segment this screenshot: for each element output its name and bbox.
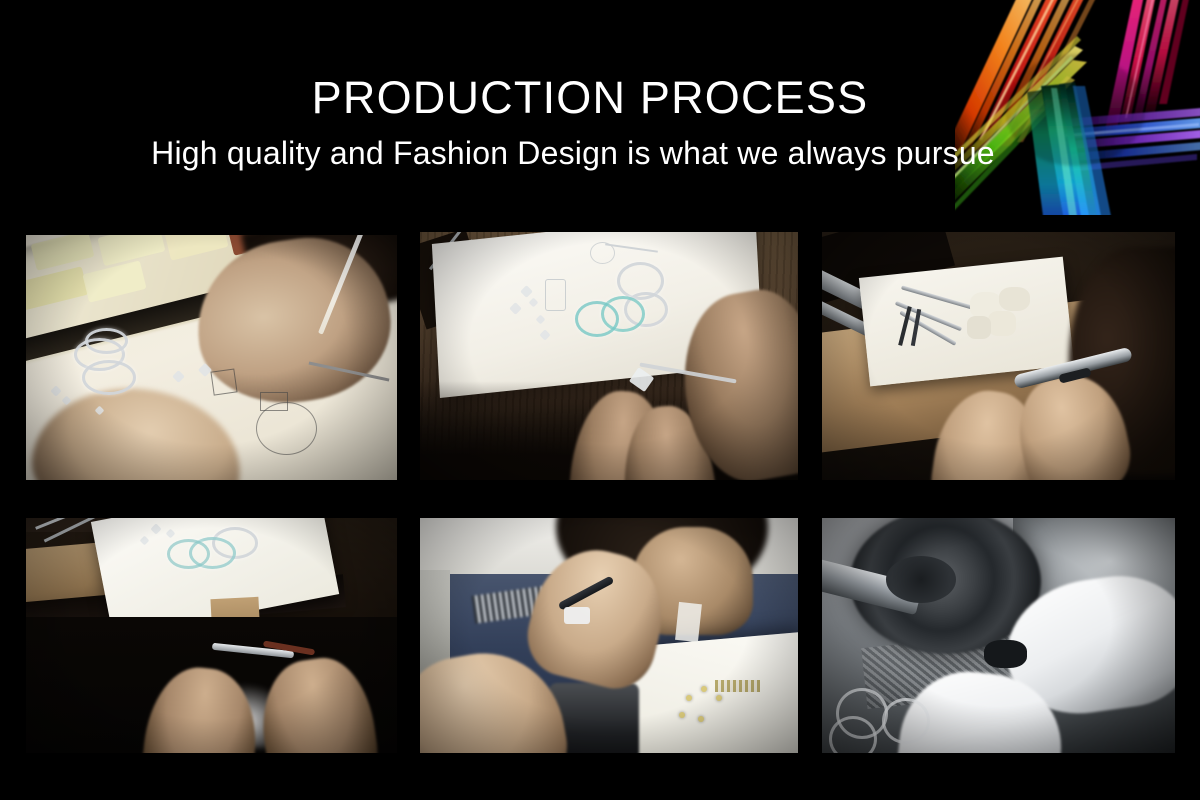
gallery-photo-5[interactable] (420, 518, 798, 753)
page-canvas: PRODUCTION PROCESS High quality and Fash… (0, 0, 1200, 800)
page-title: PRODUCTION PROCESS (0, 72, 1180, 124)
gallery-photo-3[interactable] (822, 232, 1175, 480)
page-subtitle: High quality and Fashion Design is what … (0, 133, 1146, 173)
gallery-photo-2[interactable] (420, 232, 798, 480)
gallery-photo-1[interactable] (26, 235, 397, 480)
gallery-photo-4[interactable] (26, 518, 397, 753)
page-header: PRODUCTION PROCESS High quality and Fash… (0, 0, 1200, 215)
gallery-photo-6[interactable] (822, 518, 1175, 753)
